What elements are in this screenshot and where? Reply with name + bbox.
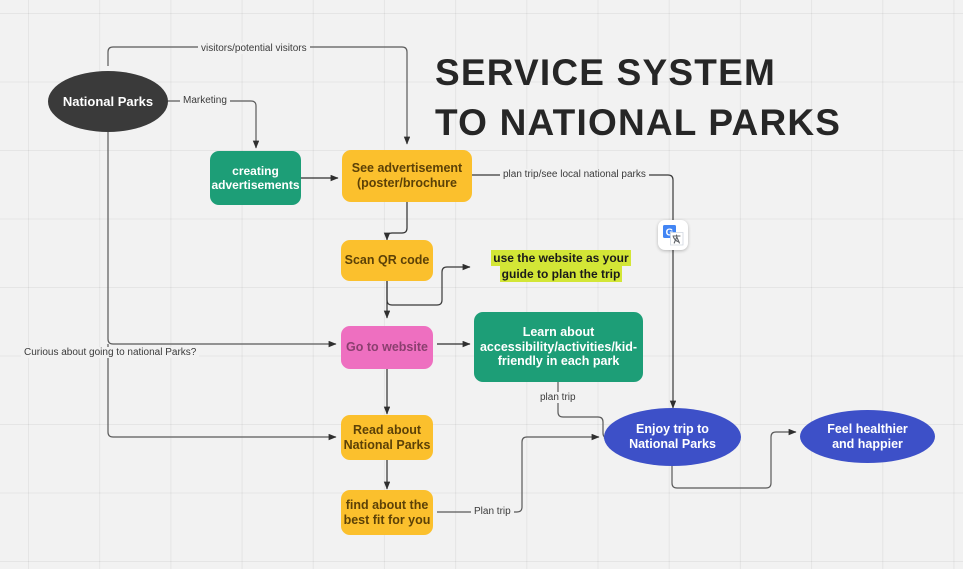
google-translate-glyph: G (662, 224, 684, 246)
edge-label-plan-trip-upper: Plan trip (471, 506, 514, 517)
node-go-to-website[interactable]: Go to website (341, 326, 433, 369)
node-national-parks[interactable]: National Parks (48, 71, 168, 132)
node-scan-qr-code[interactable]: Scan QR code (341, 240, 433, 281)
node-feel-healthier[interactable]: Feel healthier and happier (800, 410, 935, 463)
edge-label-plan-trip-local: plan trip/see local national parks (500, 169, 649, 180)
node-see-advertisement[interactable]: See advertisement (poster/brochure (342, 150, 472, 202)
edge-label-curious: Curious about going to national Parks? (21, 347, 199, 358)
diagram-canvas[interactable]: SERVICE SYSTEM TO NATIONAL PARKS Nationa… (0, 0, 963, 569)
node-read-about-national-parks[interactable]: Read about National Parks (341, 415, 433, 460)
google-translate-icon[interactable]: G (658, 220, 688, 250)
sticky-note-plan-trip: use the website as your guide to plan th… (488, 250, 634, 282)
node-learn-about[interactable]: Learn about accessibility/activities/kid… (474, 312, 643, 382)
page-title: SERVICE SYSTEM TO NATIONAL PARKS (435, 48, 841, 148)
node-creating-advertisements[interactable]: creating advertisements (210, 151, 301, 205)
sticky-note-line-2: guide to plan the trip (500, 266, 623, 282)
node-enjoy-trip[interactable]: Enjoy trip to National Parks (604, 408, 741, 466)
edge-label-visitors: visitors/potential visitors (198, 43, 310, 54)
sticky-note-line-1: use the website as your (491, 250, 630, 266)
edge-label-plan-trip-lower: plan trip (537, 392, 579, 403)
edge-label-marketing: Marketing (180, 95, 230, 106)
node-find-best-fit[interactable]: find about the best fit for you (341, 490, 433, 535)
